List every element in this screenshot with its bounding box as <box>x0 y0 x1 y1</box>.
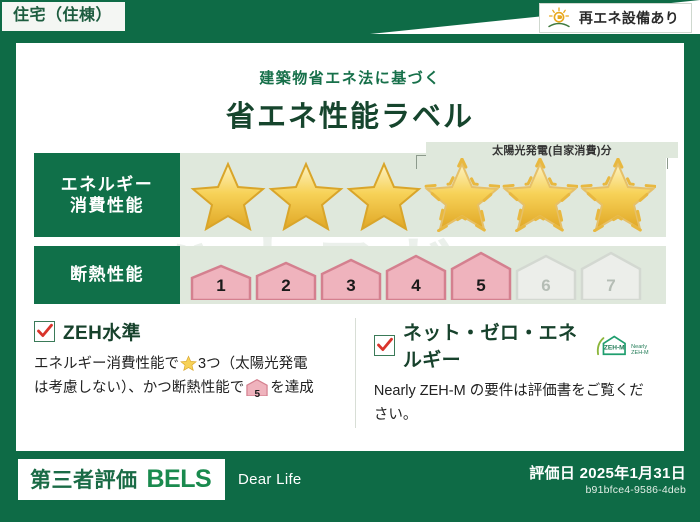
inline-house-icon: 5 <box>246 379 268 405</box>
energy-performance-label: エネルギー 消費性能 <box>34 153 180 237</box>
insulation-house-5: 5 <box>450 251 512 300</box>
bels-certification-box: 第三者評価 BELS <box>18 459 225 500</box>
insulation-house-1: 1 <box>190 264 252 300</box>
star-solar-2 <box>502 158 578 232</box>
net-zero-energy-header: ネット・ゼロ・エネルギー ZEH-M Nearly ZEH-M <box>374 318 658 372</box>
footer: 第三者評価 BELS Dear Life 評価日 2025年1月31日 b91b… <box>0 451 700 522</box>
third-party-eval-label: 第三者評価 <box>30 464 138 494</box>
label-card: ハウスドゥ 建築物省エネ法に基づく 省エネ性能ラベル エネルギー 消費性能 太陽… <box>16 43 684 451</box>
energy-rating-body: 太陽光発電(自家消費)分 <box>180 153 666 237</box>
brand-name: Dear Life <box>238 471 302 488</box>
house-type-tag: 住宅（住棟） <box>2 2 125 31</box>
zeh-body-part2: は考慮しない）、かつ断熱性能で <box>34 380 244 396</box>
renewable-badge-label: 再エネ設備あり <box>579 8 679 28</box>
insulation-house-2: 2 <box>255 261 317 300</box>
star-solar-1 <box>424 158 500 232</box>
insulation-house-number-1: 1 <box>190 276 252 296</box>
renewable-equipment-badge: 再エネ設備あり <box>539 3 692 33</box>
check-icon <box>376 336 394 354</box>
zeh-standard-title: ZEH水準 <box>63 318 141 345</box>
zeh-standard-body: エネルギー消費性能で3つ（太陽光発電は考慮しない）、かつ断熱性能で5を達成 <box>34 353 337 405</box>
star-solar-3 <box>580 158 656 232</box>
svg-text:ZEH-M: ZEH-M <box>604 345 625 352</box>
zeh-m-logo-sub: Nearly ZEH-M <box>631 344 658 360</box>
zeh-standard-header: ZEH水準 <box>34 318 337 345</box>
insulation-performance-label: 断熱性能 <box>34 246 180 304</box>
evaluation-date: 評価日 2025年1月31日 <box>529 462 686 483</box>
inline-star-icon <box>180 355 197 371</box>
label-subtitle: 建築物省エネ法に基づく <box>34 67 666 88</box>
insulation-house-4: 4 <box>385 254 447 300</box>
energy-performance-row: エネルギー 消費性能 太陽光発電(自家消費)分 <box>34 153 666 237</box>
notes-section: ZEH水準 エネルギー消費性能で3つ（太陽光発電は考慮しない）、かつ断熱性能で5… <box>34 318 666 428</box>
solar-portion-caption: 太陽光発電(自家消費)分 <box>426 142 678 158</box>
zeh-body-star-count: 3つ（太陽光発電 <box>198 356 308 372</box>
star-filled-2 <box>268 158 344 232</box>
energy-star-rating <box>190 158 656 232</box>
zeh-m-logo: ZEH-M Nearly ZEH-M <box>595 330 658 360</box>
insulation-rating-body: 1 2 3 <box>180 246 666 304</box>
zeh-body-part3: を達成 <box>270 380 314 396</box>
evaluation-id: b91bfce4-9586-4deb <box>585 484 686 496</box>
insulation-house-number-5: 5 <box>450 276 512 296</box>
insulation-house-number-3: 3 <box>320 276 382 296</box>
net-zero-energy-note: ネット・ゼロ・エネルギー ZEH-M Nearly ZEH-M Nearly Z… <box>355 318 666 428</box>
check-icon <box>36 322 54 340</box>
net-zero-energy-body: Nearly ZEH-M の要件は評価書をご覧ください。 <box>374 380 658 428</box>
zeh-body-part1: エネルギー消費性能で <box>34 356 179 372</box>
net-zero-energy-checkbox[interactable] <box>374 335 395 356</box>
net-zero-energy-title: ネット・ゼロ・エネルギー <box>403 318 583 372</box>
energy-label-line2: 消費性能 <box>70 195 144 216</box>
insulation-house-number-4: 4 <box>385 276 447 296</box>
insulation-house-number-2: 2 <box>255 276 317 296</box>
energy-label-line1: エネルギー <box>61 174 154 195</box>
insulation-house-number-6: 6 <box>515 276 577 296</box>
zeh-standard-checkbox[interactable] <box>34 321 55 342</box>
inline-house-number: 5 <box>246 387 268 404</box>
sun-icon <box>546 7 572 29</box>
label-title: 省エネ性能ラベル <box>34 93 666 135</box>
rating-rows: エネルギー 消費性能 太陽光発電(自家消費)分 <box>34 153 666 304</box>
insulation-level-houses: 1 2 3 <box>190 250 642 300</box>
insulation-performance-row: 断熱性能 1 2 <box>34 246 666 304</box>
zeh-standard-note: ZEH水準 エネルギー消費性能で3つ（太陽光発電は考慮しない）、かつ断熱性能で5… <box>34 318 345 428</box>
insulation-house-7: 7 <box>580 251 642 300</box>
star-filled-3 <box>346 158 422 232</box>
star-filled-1 <box>190 158 266 232</box>
insulation-house-number-7: 7 <box>580 276 642 296</box>
insulation-house-6: 6 <box>515 254 577 300</box>
bels-label: BELS <box>147 465 212 494</box>
top-bar: 住宅（住棟） 再エネ設備あり <box>0 0 700 40</box>
insulation-house-3: 3 <box>320 258 382 300</box>
energy-performance-label: 住宅（住棟） 再エネ設備あり ハウスドゥ 建築物省エネ法に基づく 省エネ性能ラベ… <box>0 0 700 522</box>
zeh-m-house-icon: ZEH-M <box>595 330 630 360</box>
